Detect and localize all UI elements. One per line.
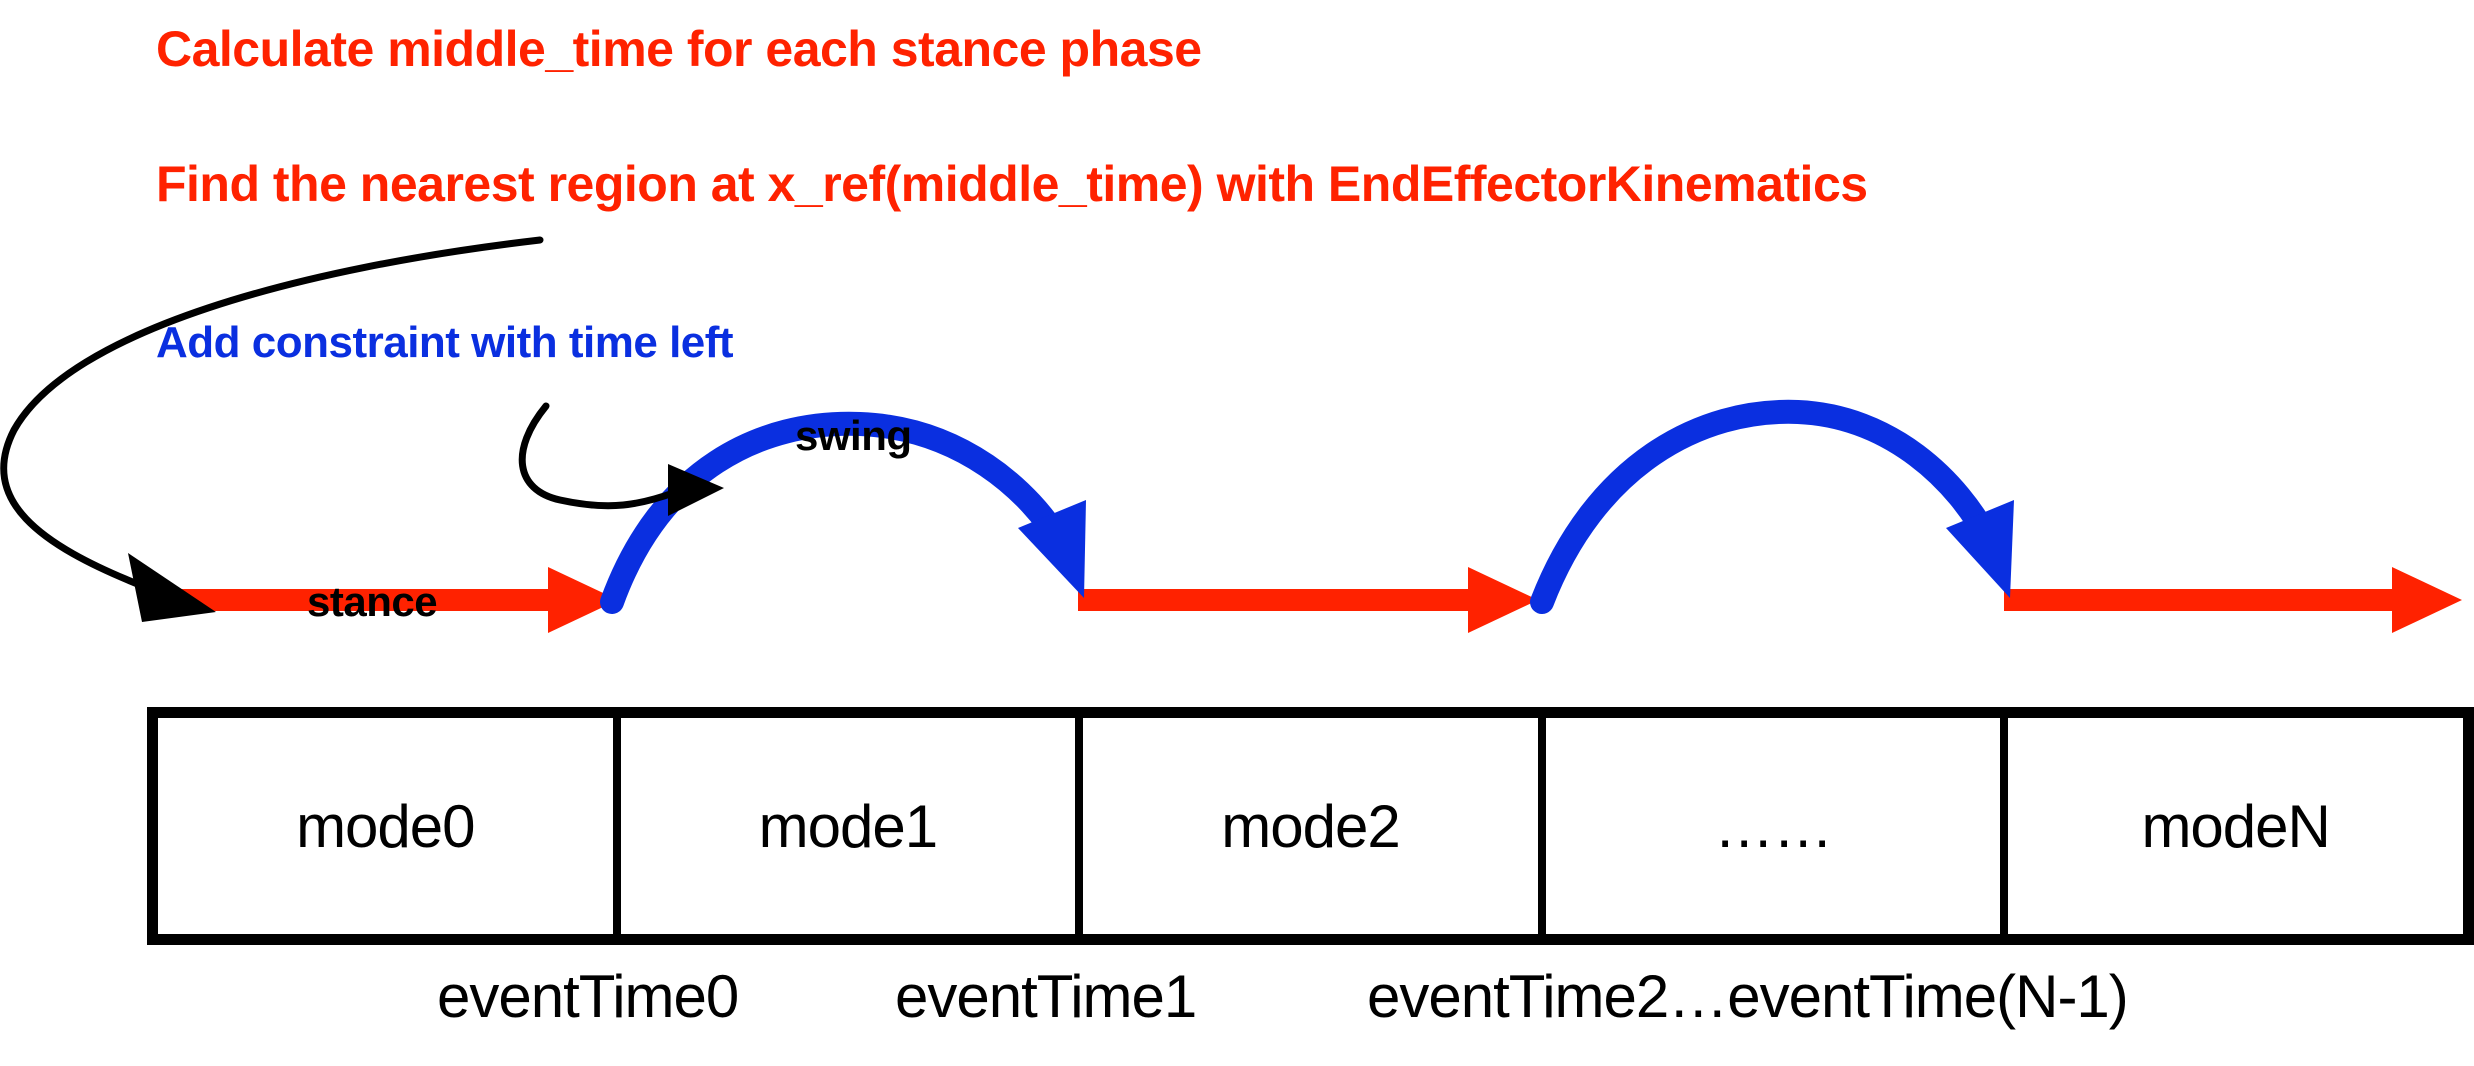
pointer-to-swing [522, 406, 724, 516]
pointer-to-swing-path [522, 406, 676, 506]
mode-cell-label: …… [1714, 792, 1832, 861]
add-constraint-note: Add constraint with time left [156, 318, 733, 368]
calculate-middle-time-note: Calculate middle_time for each stance ph… [156, 20, 1202, 78]
event-time-axis: eventTime0 eventTime1 eventTime2…eventTi… [0, 962, 2474, 1052]
mode-cell-n[interactable]: modeN [2008, 718, 2463, 934]
stance-arrowhead-3 [2392, 567, 2462, 633]
mode-cell-2[interactable]: mode2 [1083, 718, 1546, 934]
swing-path-2 [1542, 412, 1990, 602]
find-nearest-region-note: Find the nearest region at x_ref(middle_… [156, 155, 1868, 213]
mode-sequence-strip: mode0 mode1 mode2 …… modeN [147, 707, 2474, 945]
event-time-label-2: eventTime2…eventTime(N-1) [1367, 962, 2128, 1031]
mode-cell-label: mode2 [1221, 792, 1399, 861]
stance-arrow-3 [2004, 567, 2462, 633]
event-time-label-0: eventTime0 [437, 962, 738, 1031]
mode-cell-label: modeN [2141, 792, 2329, 861]
mode-cell-label: mode0 [296, 792, 474, 861]
pointer-to-stance-path [4, 240, 540, 585]
diagram-canvas: Calculate middle_time for each stance ph… [0, 0, 2474, 1066]
stance-arrowhead-2 [1468, 567, 1538, 633]
event-time-label-1: eventTime1 [895, 962, 1196, 1031]
mode-cell-1[interactable]: mode1 [621, 718, 1084, 934]
swing-arrowhead-2 [1946, 500, 2014, 598]
stance-arrow-2 [1078, 567, 1538, 633]
pointer-to-stance-head [128, 553, 216, 622]
swing-phase-label: swing [795, 412, 912, 460]
pointer-to-stance [4, 240, 540, 622]
stance-segments [152, 567, 2462, 633]
mode-cell-label: mode1 [759, 792, 937, 861]
mode-cell-0[interactable]: mode0 [158, 718, 621, 934]
mode-cell-ellipsis[interactable]: …… [1546, 718, 2009, 934]
stance-phase-label: stance [307, 578, 437, 626]
swing-arc-2 [1542, 412, 2014, 602]
